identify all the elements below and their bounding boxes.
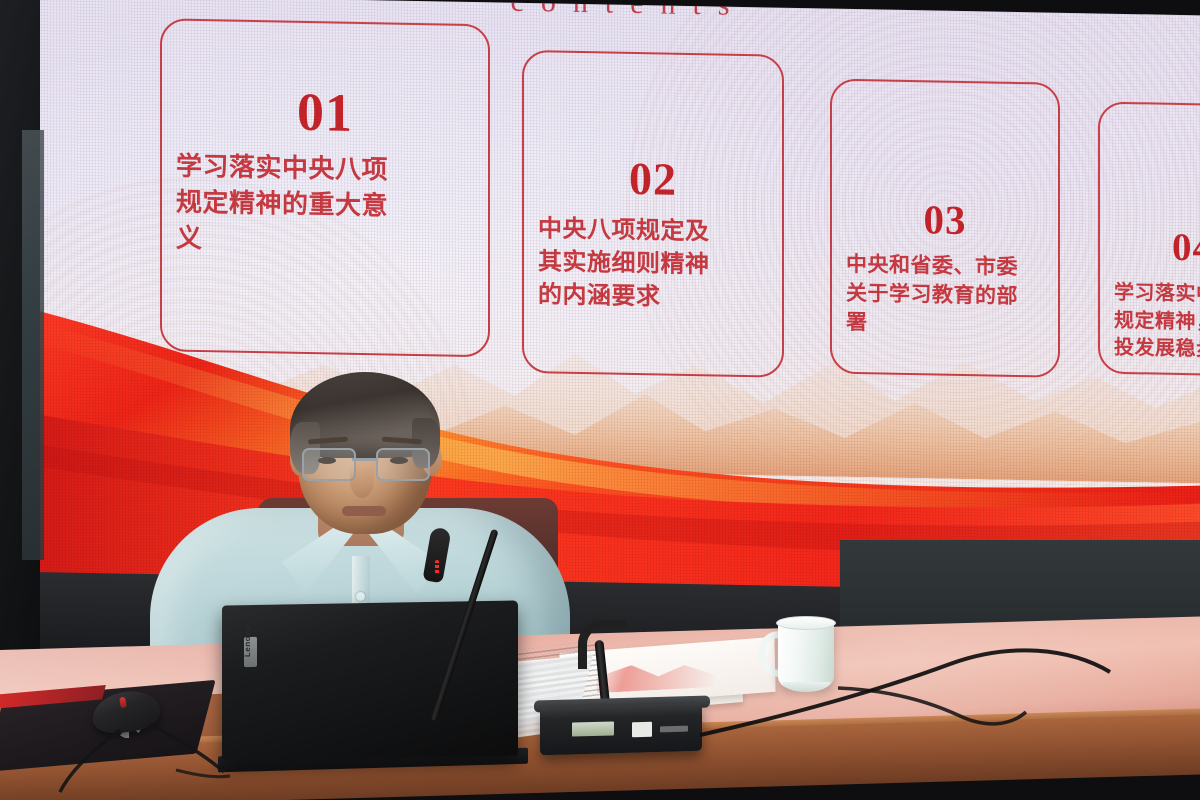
eyeglass-lens-left [302,448,356,481]
mic-base-label-white [632,722,652,738]
left-glass-panel [22,130,44,560]
screenshot-scene: contents [0,0,1200,800]
ceramic-mug [778,620,834,688]
speaker-mouth [342,506,386,516]
laptop-lid [222,600,518,760]
microphone-indicator-light [435,560,439,574]
speaker-nose [350,464,374,498]
eyeglass-bridge [352,458,378,461]
mug-rim [776,616,836,630]
lenovo-logo-icon: Lenovo [244,637,257,667]
laptop-brand-label: Lenovo [243,644,252,657]
eyeglass-lens-right [376,448,430,481]
shirt-button-1 [356,592,365,601]
mic-base-label-green [572,721,614,736]
mic-base-label-grey [660,726,688,733]
